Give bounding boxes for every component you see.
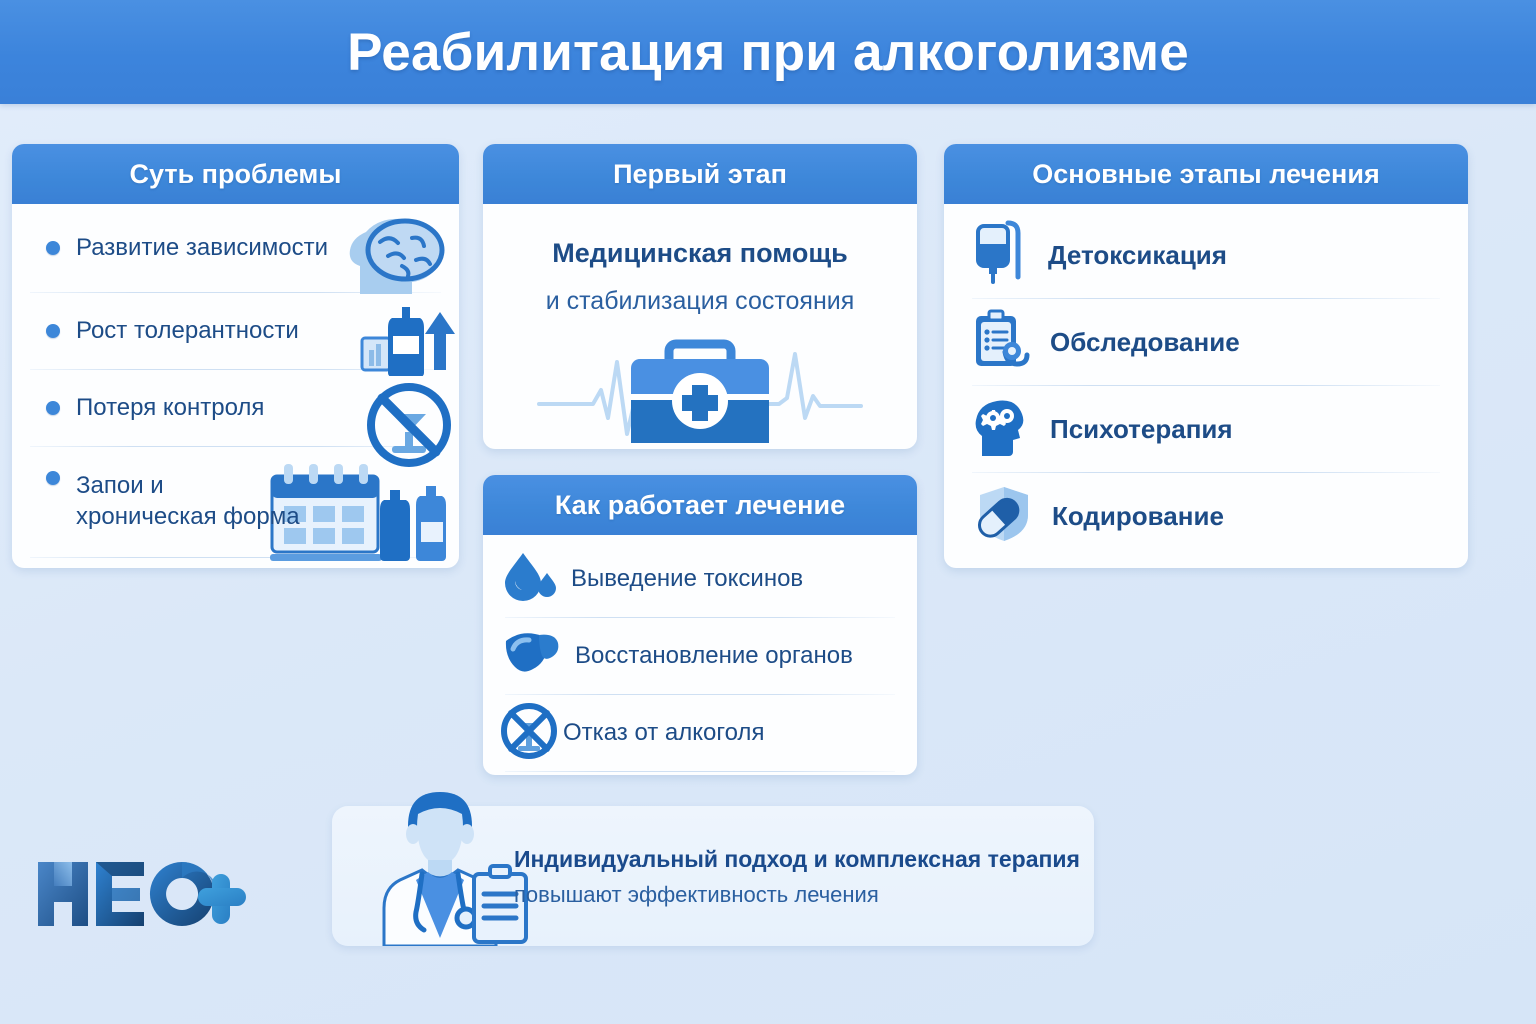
bullet-icon — [46, 471, 60, 485]
problem-item-2-label: Рост толерантности — [76, 316, 299, 347]
first-stage-line1: Медицинская помощь — [483, 238, 917, 269]
first-stage-line2: и стабилизация состояния — [483, 287, 917, 316]
how-item-1-label: Выведение токсинов — [571, 565, 803, 593]
card-first-stage-body: Медицинская помощь и стабилизация состоя… — [483, 238, 917, 449]
card-first-stage-title: Первый этап — [613, 159, 787, 190]
stage-item-1: Детоксикация — [944, 212, 1468, 298]
card-main-stages-title: Основные этапы лечения — [1032, 159, 1379, 190]
card-how-treatment-works: Как работает лечение Выведение токсинов — [483, 475, 917, 775]
bullet-icon — [46, 401, 60, 415]
problem-item-4-label-2: хроническая форма — [76, 503, 300, 530]
iv-drip-icon — [972, 220, 1028, 291]
card-problem-header: Суть проблемы — [12, 144, 459, 204]
how-item-2: Восстановление органов — [483, 618, 917, 694]
card-first-stage: Первый этап Медицинская помощь и стабили… — [483, 144, 917, 449]
page-header: Реабилитация при алкоголизме — [0, 0, 1536, 104]
card-how-title: Как работает лечение — [555, 490, 845, 521]
doctor-clipboard-icon — [360, 782, 532, 951]
how-item-3: Отказ от алкоголя — [483, 695, 917, 771]
how-item-1: Выведение токсинов — [483, 541, 917, 617]
stage-item-2: Обследование — [944, 299, 1468, 385]
problem-item-3-label: Потеря контроля — [76, 393, 264, 424]
card-main-stages-body: Детоксикация Обследование — [944, 204, 1468, 559]
card-how-body: Выведение токсинов Восстановление органо… — [483, 535, 917, 772]
problem-item-1: Развитие зависимости — [12, 204, 459, 292]
clipboard-stethoscope-icon — [972, 308, 1030, 377]
first-aid-kit-ecg-icon — [535, 332, 865, 449]
problem-item-4-label: Запои и — [76, 472, 164, 499]
pill-shield-icon — [972, 485, 1032, 548]
stage-item-4-label: Кодирование — [1052, 501, 1224, 532]
footer-banner: Индивидуальный подход и комплексная тера… — [332, 806, 1094, 946]
stage-item-1-label: Детоксикация — [1048, 240, 1227, 271]
footer-line1: Индивидуальный подход и комплексная тера… — [514, 846, 1080, 873]
problem-item-2: Рост толерантности — [12, 293, 459, 369]
card-main-stages: Основные этапы лечения Детоксикация — [944, 144, 1468, 568]
footer-text: Индивидуальный подход и комплексная тера… — [514, 846, 1080, 908]
neo-plus-logo — [34, 856, 250, 937]
page-title: Реабилитация при алкоголизме — [347, 22, 1189, 83]
problem-item-4: Запои и хроническая форма — [12, 447, 459, 557]
how-item-2-label: Восстановление органов — [575, 642, 853, 670]
stage-item-4: Кодирование — [944, 473, 1468, 559]
how-item-3-label: Отказ от алкоголя — [563, 719, 764, 747]
problem-item-1-label: Развитие зависимости — [76, 233, 328, 264]
stage-item-3-label: Психотерапия — [1050, 414, 1233, 445]
liver-icon — [503, 631, 561, 682]
stage-item-2-label: Обследование — [1050, 327, 1240, 358]
bullet-icon — [46, 324, 60, 338]
card-how-header: Как работает лечение — [483, 475, 917, 535]
divider — [505, 771, 895, 772]
head-gears-icon — [972, 396, 1030, 463]
problem-item-3: Потеря контроля — [12, 370, 459, 446]
footer-line2: повышают эффективность лечения — [514, 882, 1080, 908]
water-drop-icon — [503, 551, 557, 608]
card-main-stages-header: Основные этапы лечения — [944, 144, 1468, 204]
bullet-icon — [46, 241, 60, 255]
stage-item-3: Психотерапия — [944, 386, 1468, 472]
card-problem-title: Суть проблемы — [130, 159, 342, 190]
divider — [30, 557, 441, 558]
no-alcohol-icon — [499, 701, 559, 766]
card-first-stage-header: Первый этап — [483, 144, 917, 204]
card-problem-essence: Суть проблемы — [12, 144, 459, 568]
card-problem-body: Развитие зависимости Рост толерантности … — [12, 204, 459, 568]
